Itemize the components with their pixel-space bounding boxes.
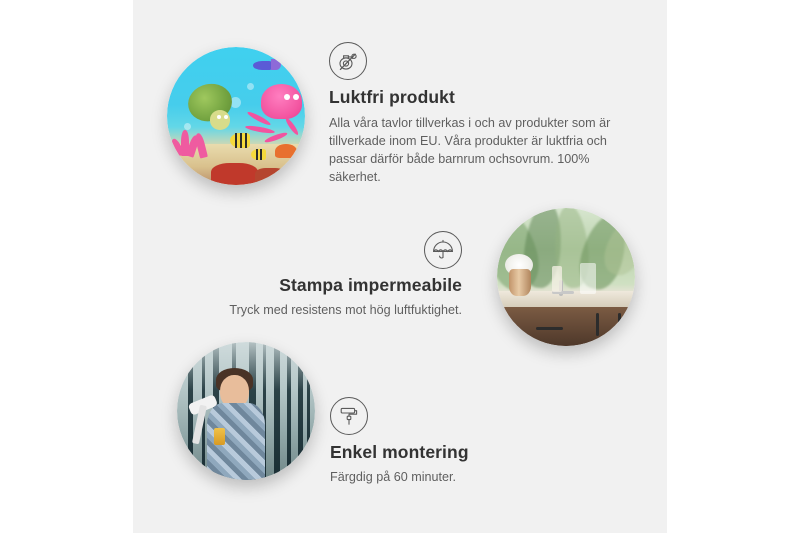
no-perfume-icon: [329, 42, 367, 80]
feature-description: Färgdig på 60 minuter.: [330, 469, 580, 487]
bathroom-tropical-wallpaper-photo: [497, 208, 635, 346]
feature-odour-free: Luktfri produkt Alla våra tavlor tillver…: [329, 42, 621, 186]
feature-easy-mounting: Enkel montering Färgdig på 60 minuter.: [330, 397, 580, 487]
screenshot-root: Luktfri produkt Alla våra tavlor tillver…: [0, 0, 800, 533]
icon-row: [190, 231, 462, 269]
feature-description: Alla våra tavlor tillverkas i och av pro…: [329, 115, 621, 187]
feature-title: Enkel montering: [330, 442, 580, 464]
painter-woman-forest-wallpaper-photo: [177, 342, 315, 480]
underwater-cartoon-mural-photo: [167, 47, 305, 185]
feature-title: Luktfri produkt: [329, 87, 621, 109]
paint-roller-icon: [330, 397, 368, 435]
feature-description: Tryck med resistens mot hög luftfuktighe…: [190, 302, 462, 320]
feature-panel: Luktfri produkt Alla våra tavlor tillver…: [133, 0, 667, 533]
feature-title: Stampa impermeabile: [190, 275, 462, 297]
feature-waterproof-print: Stampa impermeabile Tryck med resistens …: [190, 231, 462, 320]
umbrella-icon: [424, 231, 462, 269]
